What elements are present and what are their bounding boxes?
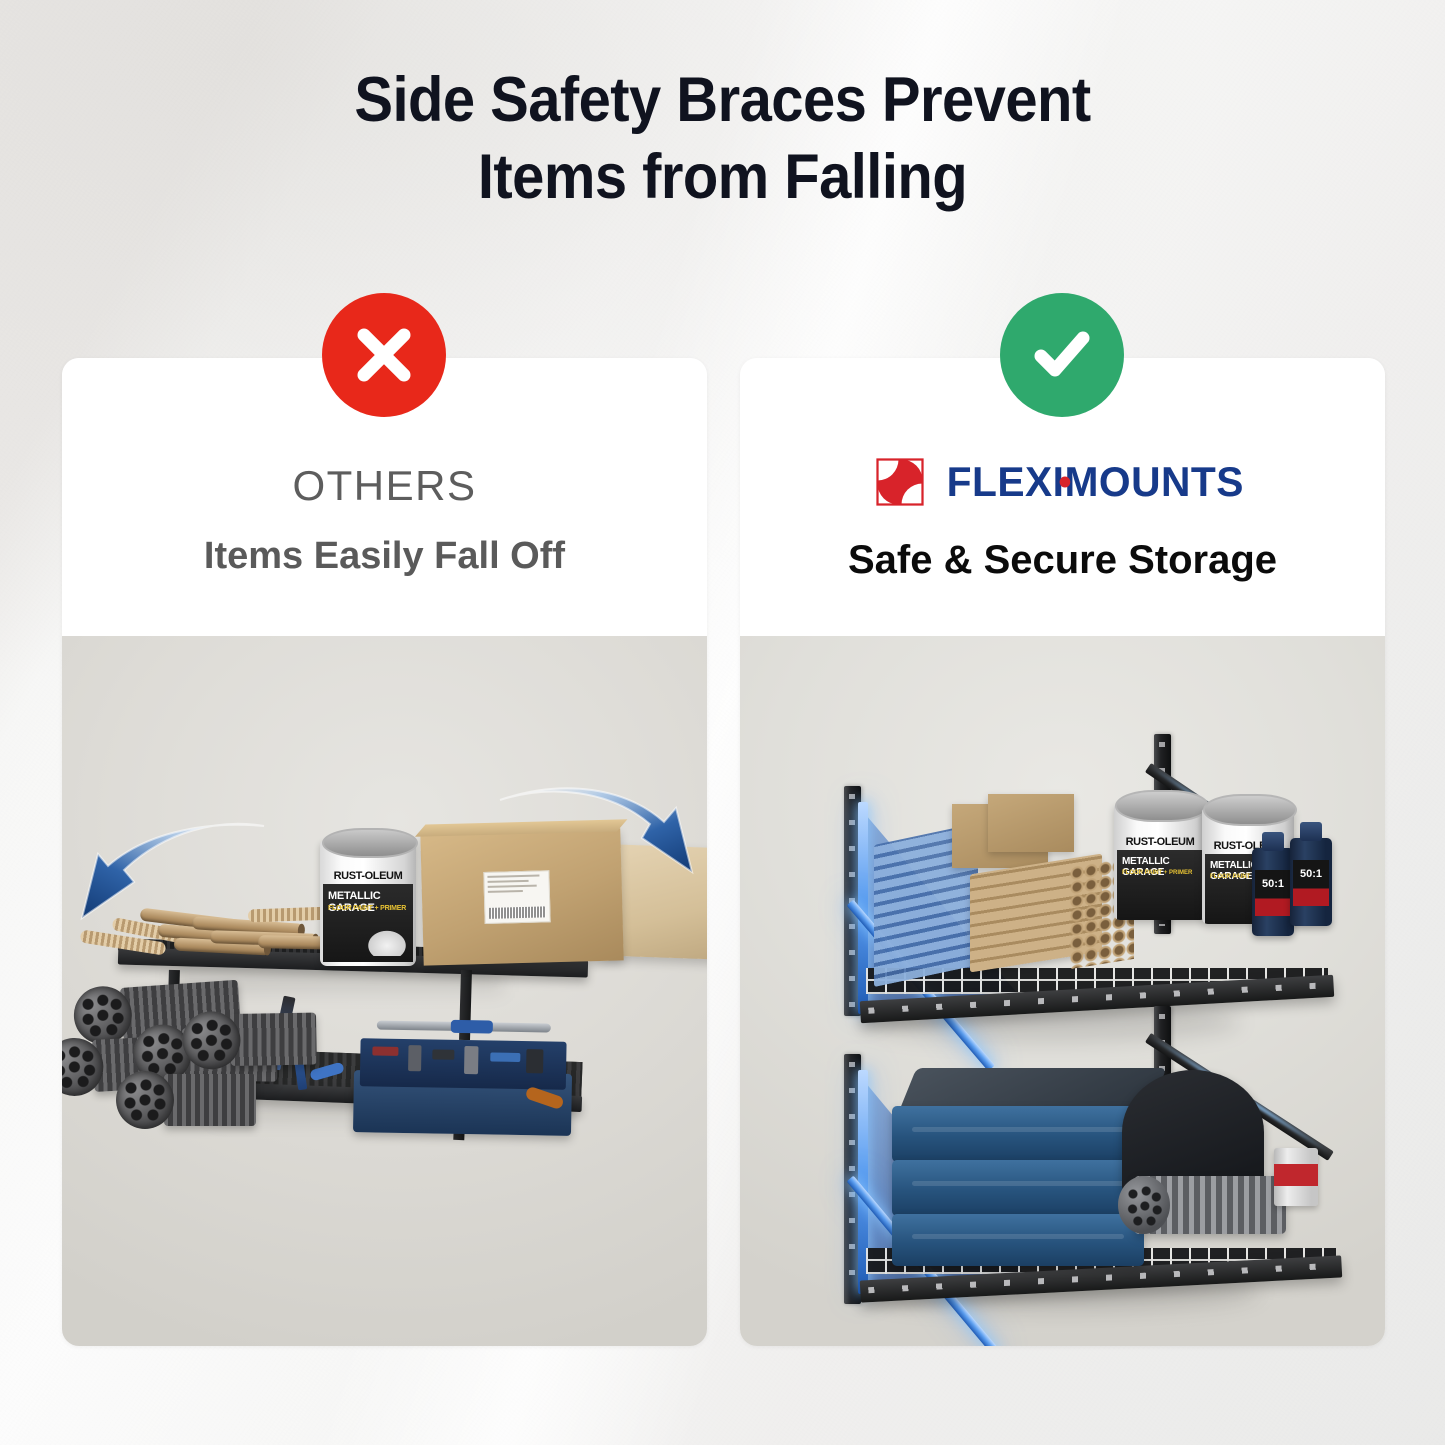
oil-bottle-1: 50:1 <box>1252 832 1294 936</box>
pipe-bundle-body <box>164 1074 256 1126</box>
tool-item <box>432 1049 454 1059</box>
paint-can-label-panel: METALLIC GARAGE FLOOR PAINT + PRIMER <box>323 884 413 962</box>
tool-item <box>526 1049 543 1073</box>
fleximounts-photo-scene: RUST-OLEUM METALLIC GARAGE FLOOR PAINT +… <box>740 636 1385 1346</box>
others-photo-scene: RUST-OLEUM METALLIC GARAGE FLOOR PAINT +… <box>62 636 707 1346</box>
check-mark-icon <box>1027 320 1097 390</box>
others-subtitle: Items Easily Fall Off <box>62 535 707 578</box>
comparison-card-others: OTHERS Items Easily Fall Off RUST-OLEUM … <box>62 358 707 1346</box>
arrow-falling-left-icon <box>68 812 268 952</box>
tool-box-tray <box>360 1038 567 1090</box>
paint-can-brand: RUST-OLEUM <box>320 870 416 882</box>
cardboard-box-stored <box>988 794 1074 852</box>
small-can-label <box>1274 1164 1318 1186</box>
paint-can-lid <box>1203 794 1297 826</box>
oil-bottle-label: 50:1 <box>1293 860 1329 906</box>
oil-bottle-2: 50:1 <box>1290 822 1332 926</box>
brand-wordmark: FLEXIMOUNTS <box>947 458 1244 506</box>
blue-storage-case-2 <box>892 1160 1144 1216</box>
x-mark-icon <box>351 322 417 388</box>
status-badge-positive <box>1000 293 1124 417</box>
oil-bottle-label: 50:1 <box>1255 870 1291 916</box>
oil-bottle-ratio: 50:1 <box>1293 868 1329 880</box>
page-title-line-1: Side Safety Braces Prevent <box>58 62 1387 139</box>
tool-item <box>372 1046 398 1055</box>
paint-can-lid <box>322 828 418 858</box>
paint-can-label-panel: METALLIC GARAGE FLOOR PAINT + PRIMER <box>1117 850 1203 920</box>
blue-storage-case-1 <box>892 1106 1144 1162</box>
tool-box-grip <box>451 1020 493 1034</box>
paint-can-rustoleum-stored-1: RUST-OLEUM METALLIC GARAGE FLOOR PAINT +… <box>1114 788 1206 920</box>
oil-bottle-cap <box>1300 822 1322 841</box>
pipe-bundle-face-stored <box>1118 1176 1170 1234</box>
pipe-bundle-face <box>116 1071 174 1129</box>
tool-item <box>408 1045 421 1071</box>
paint-can-car-graphic <box>365 930 409 956</box>
paint-can-body: RUST-OLEUM METALLIC GARAGE FLOOR PAINT +… <box>320 840 416 966</box>
brand-lockup: FLEXIMOUNTS <box>740 458 1385 506</box>
paint-can-label-line-2: FLOOR PAINT + PRIMER <box>1122 870 1192 876</box>
page-title: Side Safety Braces Prevent Items from Fa… <box>58 62 1387 216</box>
paint-can-label-line-2: FLOOR PAINT + PRIMER <box>328 905 406 912</box>
oil-bottle-ratio: 50:1 <box>1255 878 1291 890</box>
paint-can-lid <box>1115 790 1209 822</box>
pipe-bundle-body <box>230 1012 317 1065</box>
brand-wordmark-part-2: MOUNTS <box>1065 458 1244 506</box>
blue-storage-case-3 <box>892 1214 1144 1266</box>
paint-can-brand: RUST-OLEUM <box>1114 836 1206 848</box>
page-title-line-2: Items from Falling <box>58 139 1387 216</box>
paint-can-rustoleum: RUST-OLEUM METALLIC GARAGE FLOOR PAINT +… <box>320 826 416 966</box>
comparison-card-fleximounts: FLEXIMOUNTS Safe & Secure Storage <box>740 358 1385 1346</box>
tool-item <box>490 1052 520 1062</box>
tool-item <box>464 1046 478 1074</box>
arrow-falling-right-icon <box>492 774 702 914</box>
small-paint-can <box>1274 1148 1318 1206</box>
brand-wordmark-part-1: FLEXI <box>947 458 1065 506</box>
fleximounts-pinwheel-icon <box>876 458 924 506</box>
oil-bottle-cap <box>1262 832 1284 851</box>
others-title: OTHERS <box>62 462 707 510</box>
tool-box <box>353 1014 573 1136</box>
status-badge-negative <box>322 293 446 417</box>
fleximounts-subtitle: Safe & Secure Storage <box>740 538 1385 583</box>
